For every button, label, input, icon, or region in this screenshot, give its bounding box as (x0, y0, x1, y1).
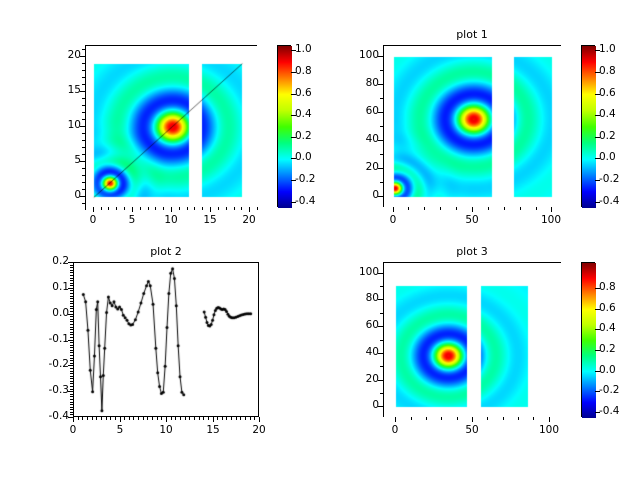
xtick-minor (426, 417, 427, 420)
ytick-minor (380, 366, 383, 367)
xtick-minor (503, 417, 504, 420)
plot-area-plot3 (384, 263, 562, 418)
ytick-minor (380, 406, 383, 407)
ytick-minor (380, 313, 383, 314)
ytick-minor (380, 326, 383, 327)
colorbar-plot3 (581, 262, 595, 417)
axes-frame-plot3 (383, 262, 561, 417)
ytick-minor (380, 393, 383, 394)
ytick-label: 20 (335, 373, 379, 385)
colorbar-tick-label: -0.4 (599, 405, 620, 417)
figure-canvas: 05101520051015201.00.80.60.40.20.0-0.2-0… (0, 0, 640, 480)
subplot-plot3: plot 30204060801000501000.80.60.40.20.0-… (0, 0, 640, 480)
colorbar-gradient (582, 263, 596, 418)
xtick-minor (518, 417, 519, 420)
colorbar-tick-label: 0.4 (599, 322, 616, 334)
xtick-minor (472, 417, 473, 420)
ytick-label: 100 (335, 266, 379, 278)
xtick-label: 100 (529, 424, 569, 436)
colorbar-tick-label: -0.2 (599, 384, 620, 396)
ytick-label: 80 (335, 292, 379, 304)
ytick-minor (380, 340, 383, 341)
colorbar-tick-label: 0.2 (599, 343, 616, 355)
ytick-minor (380, 273, 383, 274)
ytick-minor (380, 353, 383, 354)
colorbar-tick-label: 0.8 (599, 281, 616, 293)
ytick-label: 60 (335, 319, 379, 331)
ytick-minor (380, 299, 383, 300)
ytick-label: 0 (335, 399, 379, 411)
xtick-minor (549, 417, 550, 420)
ytick-label: 40 (335, 346, 379, 358)
ytick-minor (380, 286, 383, 287)
xtick-minor (457, 417, 458, 420)
xtick-minor (395, 417, 396, 420)
xtick-label: 0 (375, 424, 415, 436)
xtick-minor (533, 417, 534, 420)
xtick-label: 50 (452, 424, 492, 436)
colorbar-tick-label: 0.6 (599, 302, 616, 314)
plot-title: plot 3 (383, 245, 561, 258)
xtick-minor (487, 417, 488, 420)
xtick-minor (441, 417, 442, 420)
colorbar-tick-label: 0.0 (599, 364, 616, 376)
ytick-minor (380, 380, 383, 381)
xtick-minor (411, 417, 412, 420)
